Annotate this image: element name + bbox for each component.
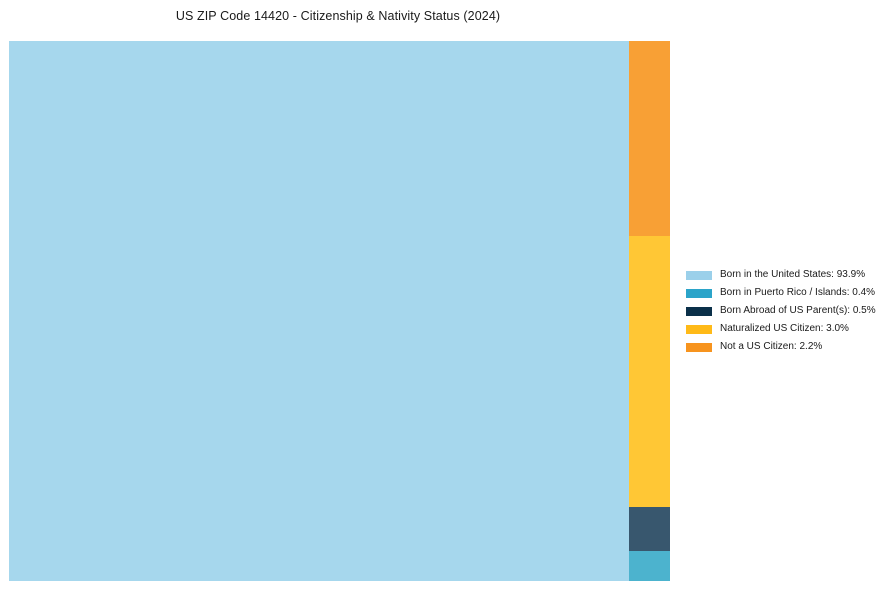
legend-item[interactable]: Born Abroad of US Parent(s): 0.5% — [686, 302, 886, 320]
treemap-tile-born-in-the-united-states[interactable] — [9, 41, 629, 581]
legend-item-label: Born in the United States: 93.9% — [720, 266, 865, 284]
legend-item[interactable]: Not a US Citizen: 2.2% — [686, 338, 886, 356]
legend-item-label: Not a US Citizen: 2.2% — [720, 338, 822, 356]
chart-title: US ZIP Code 14420 - Citizenship & Nativi… — [0, 9, 676, 23]
legend-swatch-icon — [686, 271, 712, 280]
legend-item-label: Born Abroad of US Parent(s): 0.5% — [720, 302, 876, 320]
treemap-tile-born-abroad-of-us-parents[interactable] — [629, 507, 670, 551]
legend-item[interactable]: Born in Puerto Rico / Islands: 0.4% — [686, 284, 886, 302]
treemap-tile-not-a-us-citizen[interactable] — [629, 41, 670, 236]
legend-item-label: Born in Puerto Rico / Islands: 0.4% — [720, 284, 875, 302]
treemap-tile-born-in-puerto-rico-islands[interactable] — [629, 551, 670, 581]
legend-item[interactable]: Born in the United States: 93.9% — [686, 266, 886, 284]
legend-swatch-icon — [686, 343, 712, 352]
legend-item-label: Naturalized US Citizen: 3.0% — [720, 320, 849, 338]
chart-legend: Born in the United States: 93.9% Born in… — [686, 266, 886, 356]
treemap-tile-naturalized-us-citizen[interactable] — [629, 236, 670, 507]
legend-swatch-icon — [686, 289, 712, 298]
legend-swatch-icon — [686, 307, 712, 316]
legend-item[interactable]: Naturalized US Citizen: 3.0% — [686, 320, 886, 338]
legend-swatch-icon — [686, 325, 712, 334]
treemap-plot-area — [9, 41, 670, 581]
